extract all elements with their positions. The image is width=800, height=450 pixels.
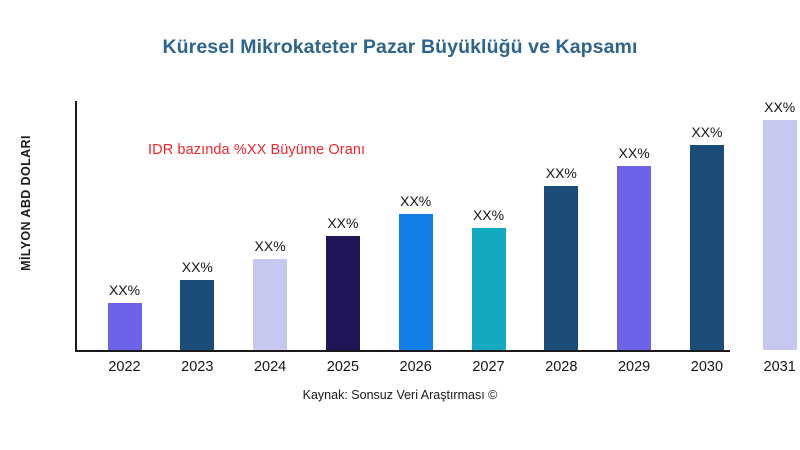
x-tick-label-2031: 2031 xyxy=(750,359,800,375)
bar-group: XX% xyxy=(108,101,142,350)
bar xyxy=(253,259,287,350)
bar xyxy=(108,303,142,350)
x-tick-label-2024: 2024 xyxy=(240,359,300,375)
bar xyxy=(617,166,651,350)
x-tick-label-2025: 2025 xyxy=(313,359,373,375)
bar xyxy=(690,145,724,350)
bar xyxy=(326,236,360,350)
bar-group: XX% xyxy=(180,101,214,350)
bar-group: XX% xyxy=(253,101,287,350)
x-tick-label-2022: 2022 xyxy=(95,359,155,375)
bar-group: XX% xyxy=(617,101,651,350)
x-axis-line xyxy=(75,350,730,352)
source-note: Kaynak: Sonsuz Veri Araştırması © xyxy=(0,388,800,402)
bar-value-label: XX% xyxy=(473,207,504,223)
bar xyxy=(472,228,506,350)
bar xyxy=(763,120,797,350)
bar-chart: Küresel Mikrokateter Pazar Büyüklüğü ve … xyxy=(0,0,800,450)
bar-value-label: XX% xyxy=(619,145,650,161)
bar-value-label: XX% xyxy=(182,259,213,275)
bar-group: XX% xyxy=(763,101,797,350)
bar xyxy=(399,214,433,350)
x-tick-label-2028: 2028 xyxy=(531,359,591,375)
bar-value-label: XX% xyxy=(109,282,140,298)
x-tick-label-2027: 2027 xyxy=(459,359,519,375)
y-axis-label: MİLYON ABD DOLARI xyxy=(19,93,33,313)
bar-value-label: XX% xyxy=(400,193,431,209)
bar xyxy=(544,186,578,350)
bar-group: XX% xyxy=(472,101,506,350)
bar-value-label: XX% xyxy=(327,215,358,231)
bar-value-label: XX% xyxy=(691,124,722,140)
y-axis-line xyxy=(75,101,77,350)
bar-group: XX% xyxy=(544,101,578,350)
x-tick-label-2026: 2026 xyxy=(386,359,446,375)
bar-group: XX% xyxy=(326,101,360,350)
bar-group: XX% xyxy=(690,101,724,350)
bar xyxy=(180,280,214,350)
chart-title: Küresel Mikrokateter Pazar Büyüklüğü ve … xyxy=(0,36,800,59)
bar-value-label: XX% xyxy=(255,238,286,254)
x-tick-label-2023: 2023 xyxy=(167,359,227,375)
plot-area: XX%XX%XX%XX%XX%XX%XX%XX%XX%XX% xyxy=(75,101,730,350)
x-tick-label-2029: 2029 xyxy=(604,359,664,375)
x-tick-label-2030: 2030 xyxy=(677,359,737,375)
bar-group: XX% xyxy=(399,101,433,350)
bar-value-label: XX% xyxy=(546,165,577,181)
bar-value-label: XX% xyxy=(764,99,795,115)
